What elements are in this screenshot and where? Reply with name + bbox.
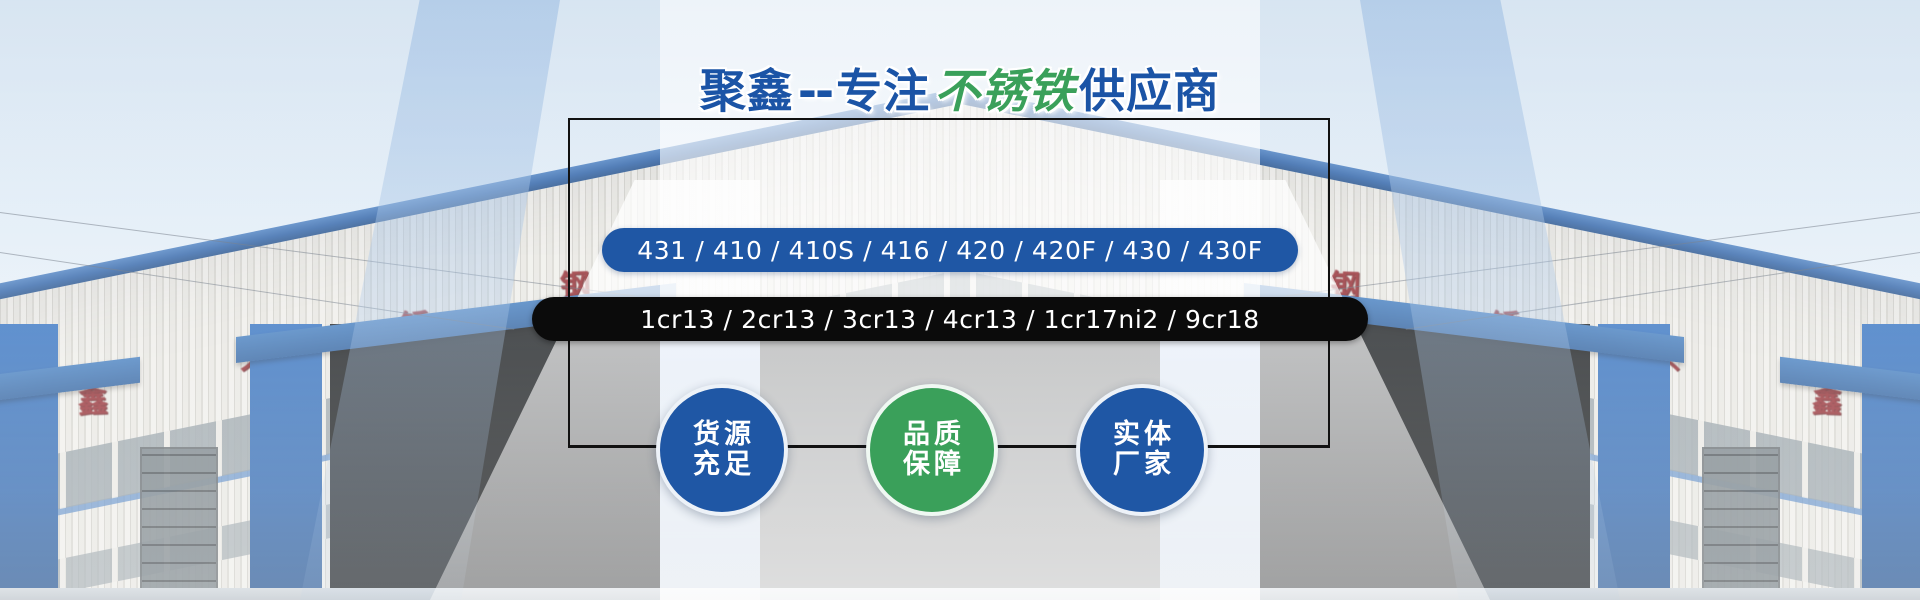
- badge-quality-line1: 品质: [899, 420, 965, 450]
- badge-connector-line: [1204, 446, 1330, 448]
- badge-connector-line: [990, 446, 1086, 448]
- badge-quality-line2: 保障: [899, 450, 965, 480]
- headline-brand: 聚鑫: [698, 68, 796, 114]
- grade-bar-secondary-text: 1cr13 / 2cr13 / 3cr13 / 4cr13 / 1cr17ni2…: [640, 305, 1260, 334]
- banner-content: 聚鑫--专注不锈铁供应商 431 / 410 / 410S / 416 / 42…: [0, 0, 1920, 600]
- headline-focus: 专注: [834, 68, 932, 114]
- headline: 聚鑫--专注不锈铁供应商: [0, 68, 1920, 114]
- badge-factory: 实体 厂家: [1076, 384, 1208, 516]
- grade-bar-primary: 431 / 410 / 410S / 416 / 420 / 420F / 43…: [602, 228, 1298, 272]
- headline-highlight: 不锈铁: [932, 68, 1077, 114]
- badge-supply: 货源 充足: [656, 384, 788, 516]
- badge-factory-line2: 厂家: [1109, 450, 1175, 480]
- grade-bar-primary-text: 431 / 410 / 410S / 416 / 420 / 420F / 43…: [637, 236, 1262, 265]
- grade-bar-secondary: 1cr13 / 2cr13 / 3cr13 / 4cr13 / 1cr17ni2…: [532, 297, 1368, 341]
- promo-banner: 鑫 不 锈 钢 鑫: [0, 0, 1920, 600]
- badge-connector-line: [568, 446, 664, 448]
- badge-supply-line1: 货源: [689, 420, 755, 450]
- badge-factory-line1: 实体: [1109, 420, 1175, 450]
- headline-supplier: 供应商: [1077, 68, 1222, 114]
- badge-connector-line: [780, 446, 876, 448]
- headline-dash: --: [796, 68, 834, 114]
- badge-supply-line2: 充足: [689, 450, 755, 480]
- badge-quality: 品质 保障: [866, 384, 998, 516]
